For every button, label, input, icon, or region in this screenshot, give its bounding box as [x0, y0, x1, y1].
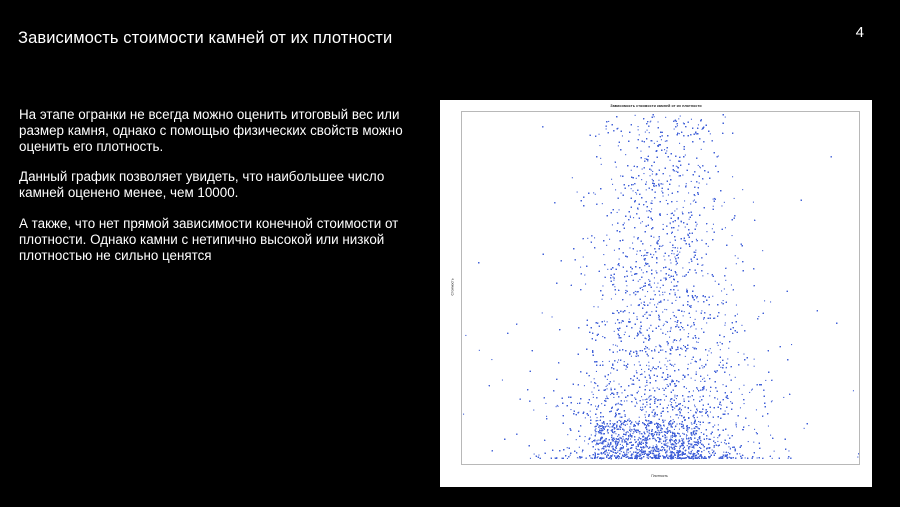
slide-root: Зависимость стоимости камней от их плотн… [0, 0, 900, 507]
y-tick-mark [461, 186, 462, 187]
body-paragraph-2: Данный график позволяет увидеть, что наи… [19, 169, 419, 201]
y-tick-mark [461, 325, 462, 326]
body-text-block: На этапе огранки не всегда можно оценить… [19, 107, 419, 263]
scatter-points [463, 114, 859, 459]
chart-panel: Зависимость стоимости камней от их плотн… [440, 100, 872, 487]
body-paragraph-1: На этапе огранки не всегда можно оценить… [19, 107, 419, 154]
y-axis-label: Стоимость [450, 279, 454, 296]
x-tick-mark [674, 464, 675, 465]
body-paragraph-3: А также, что нет прямой зависимости коне… [19, 216, 419, 263]
y-tick-mark [461, 140, 462, 141]
slide-number: 4 [856, 24, 864, 41]
x-tick-mark [727, 464, 728, 465]
y-tick-mark [461, 418, 462, 419]
y-tick-mark [461, 279, 462, 280]
x-tick-mark [568, 464, 569, 465]
x-tick-mark [833, 464, 834, 465]
x-axis-label: Плотность [461, 474, 858, 478]
x-tick-mark [780, 464, 781, 465]
scatter-series [462, 112, 859, 464]
y-tick-mark [461, 371, 462, 372]
page-title: Зависимость стоимости камней от их плотн… [18, 29, 392, 48]
plot-area: 0250050007500100001250015000175000.00004… [461, 111, 860, 465]
chart-title: Зависимость стоимости камней от их плотн… [440, 104, 872, 108]
x-tick-mark [515, 464, 516, 465]
y-tick-mark [461, 464, 462, 465]
x-tick-mark [621, 464, 622, 465]
y-tick-mark [461, 232, 462, 233]
